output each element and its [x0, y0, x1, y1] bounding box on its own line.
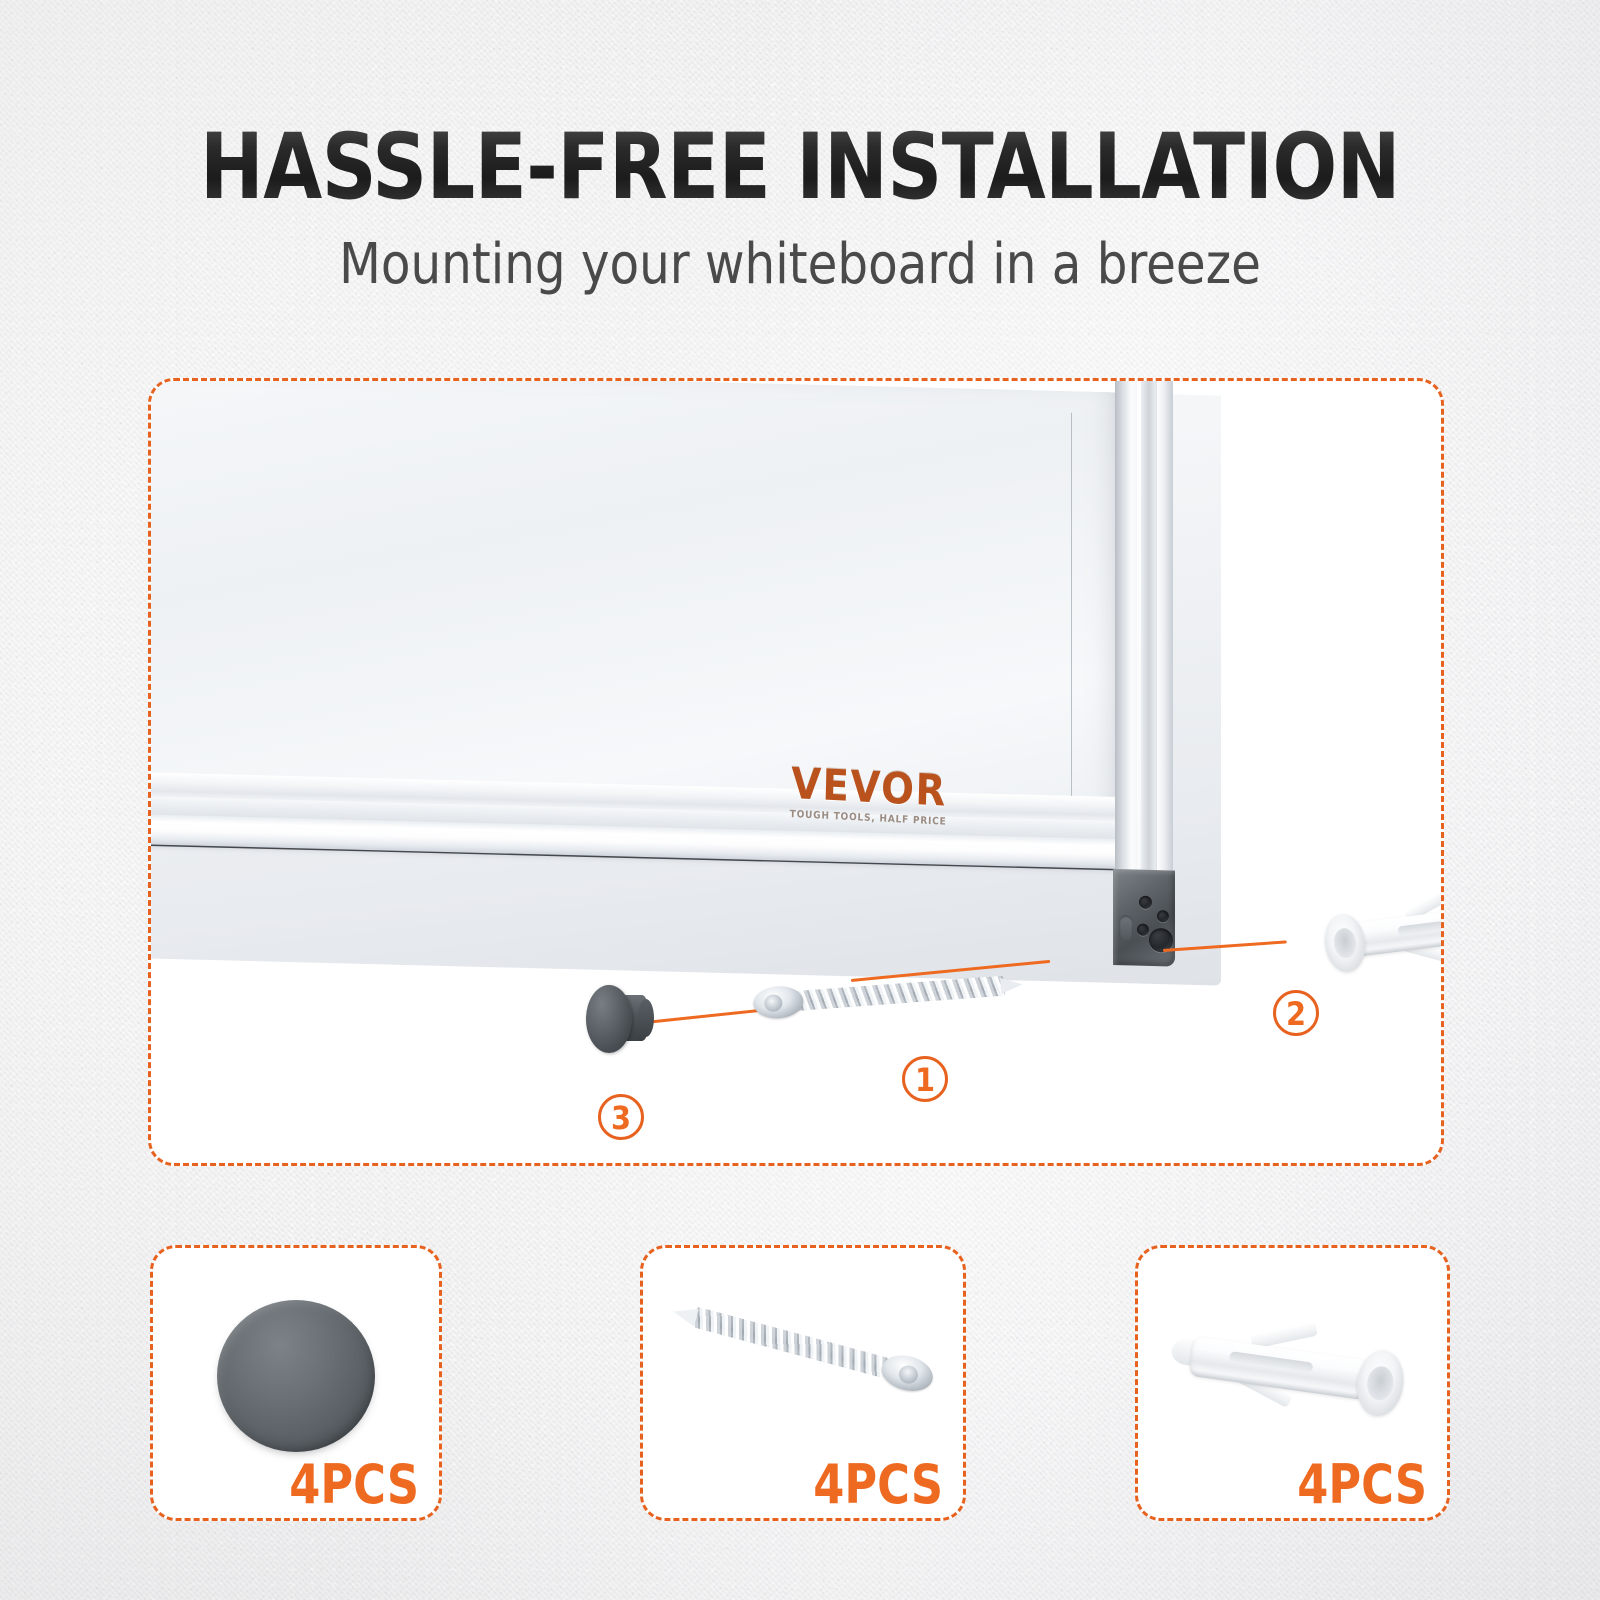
part-quantity-mounting-screw: 4PCS: [813, 1458, 943, 1512]
bracket-hole-small-right: [1157, 910, 1169, 922]
corner-bracket: [1113, 869, 1175, 967]
wall-anchor-part: [1300, 895, 1444, 983]
callout-badge-3: 3: [598, 1094, 644, 1140]
screw-tip: [1000, 976, 1023, 994]
cap-cover-part: [586, 985, 656, 1055]
callout-badge-1: 1: [902, 1056, 948, 1102]
whiteboard-rail-edge: [1157, 378, 1173, 917]
part-quantity-cap-cover: 4PCS: [289, 1458, 419, 1512]
part-quantity-wall-anchor: 4PCS: [1297, 1458, 1427, 1512]
part-card-cap-cover: 4PCS: [150, 1245, 442, 1521]
screw-icon-tip: [671, 1303, 699, 1327]
cap-cover-head: [586, 985, 632, 1053]
installation-diagram-panel: VEVOR TOUGH TOOLS, HALF PRICE 1 2 3: [148, 378, 1444, 1166]
bracket-hole-small-bottom: [1137, 924, 1149, 936]
part-card-wall-anchor: 4PCS: [1135, 1245, 1450, 1521]
wall-anchor-icon: [1164, 1317, 1422, 1427]
vevor-logo: VEVOR TOUGH TOOLS, HALF PRICE: [790, 763, 948, 828]
callout-badge-2: 2: [1273, 990, 1319, 1036]
page-subtitle: Mounting your whiteboard in a breeze: [32, 237, 1568, 293]
bracket-slot: [1119, 915, 1133, 941]
screw-icon-shaft: [692, 1307, 889, 1379]
bracket-hole-small-top: [1139, 896, 1152, 909]
vevor-wordmark: VEVOR: [790, 763, 948, 814]
whiteboard-rail-highlight: [1137, 378, 1141, 907]
whiteboard-illustration: VEVOR TOUGH TOOLS, HALF PRICE: [148, 378, 1221, 957]
cap-cover-shank-end: [638, 999, 654, 1037]
header: HASSLE-FREE INSTALLATION Mounting your w…: [0, 122, 1600, 293]
part-card-mounting-screw: 4PCS: [640, 1245, 966, 1521]
cap-cover-icon: [217, 1300, 375, 1452]
page-title: HASSLE-FREE INSTALLATION: [56, 122, 1544, 213]
screw-icon: [667, 1294, 937, 1397]
screw-shaft: [795, 976, 1006, 1011]
